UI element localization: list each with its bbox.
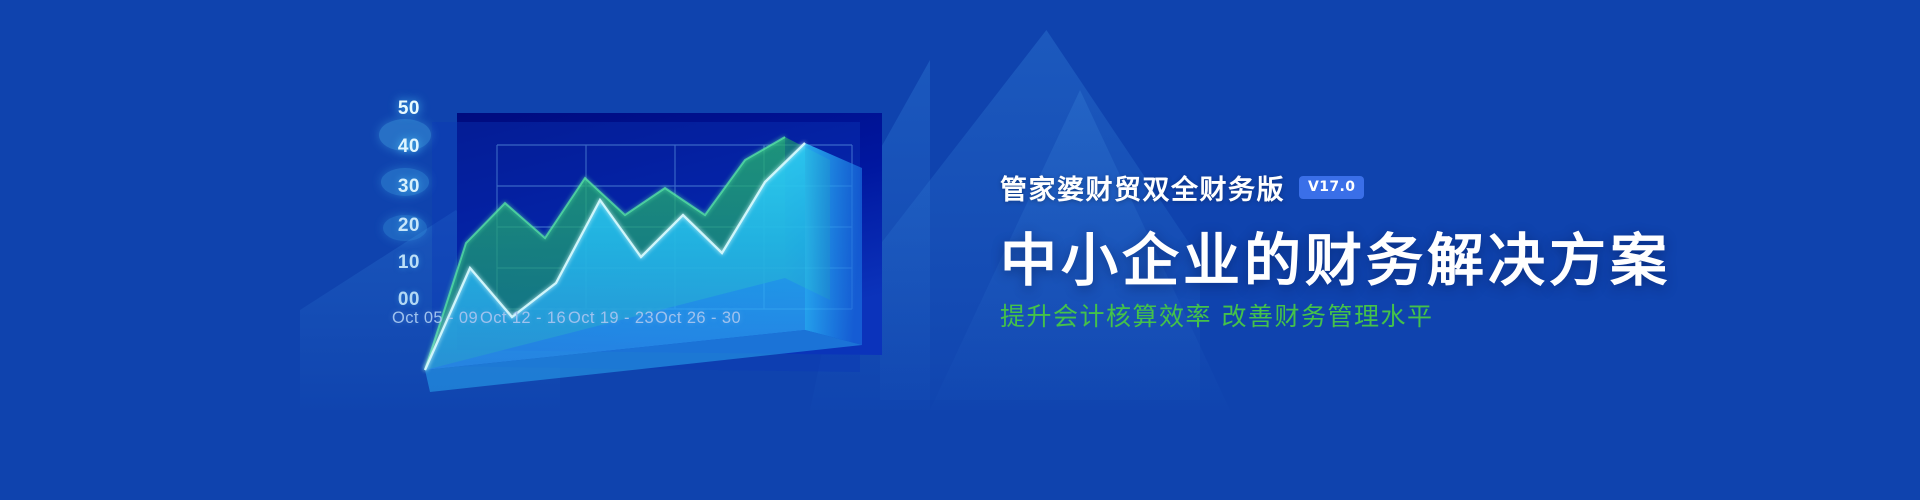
y-axis-tick: 50 bbox=[374, 99, 420, 118]
subtitle: 提升会计核算效率 改善财务管理水平 bbox=[1000, 297, 1433, 333]
x-axis-tick: Oct 05 - 09 bbox=[392, 309, 478, 328]
promo-banner: 50 40 30 20 10 00 Oct 05 - 09 Oct 12 - 1… bbox=[0, 0, 1920, 500]
y-axis-tick: 30 bbox=[374, 177, 420, 196]
page-title: 中小企业的财务解决方案 bbox=[1000, 215, 1671, 297]
version-badge: V17.0 bbox=[1299, 176, 1364, 199]
x-axis-tick: Oct 26 - 30 bbox=[655, 309, 741, 328]
x-axis-tick: Oct 12 - 16 bbox=[480, 309, 566, 328]
brand-line: 管家婆财贸双全财务版 V17.0 bbox=[1000, 168, 1364, 207]
y-axis-tick: 20 bbox=[374, 216, 420, 235]
brand-name: 管家婆财贸双全财务版 bbox=[1000, 168, 1285, 207]
x-axis-tick: Oct 19 - 23 bbox=[568, 309, 654, 328]
chart-canvas bbox=[0, 0, 1000, 440]
promo-copy: 管家婆财贸双全财务版 V17.0 中小企业的财务解决方案 提升会计核算效率 改善… bbox=[1000, 0, 1920, 500]
y-axis-tick: 00 bbox=[374, 290, 420, 309]
analytics-chart: 50 40 30 20 10 00 Oct 05 - 09 Oct 12 - 1… bbox=[0, 0, 1000, 440]
y-axis-tick: 10 bbox=[374, 253, 420, 272]
y-axis-tick: 40 bbox=[374, 137, 420, 156]
